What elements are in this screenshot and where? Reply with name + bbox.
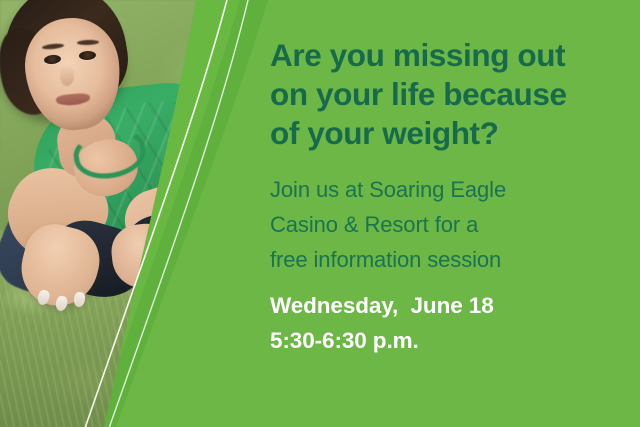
text-content-column: Are you missing out on your life because… — [270, 0, 630, 427]
subheadline-line-3: free information session — [270, 242, 600, 277]
subheadline-line-1: Join us at Soaring Eagle — [270, 172, 600, 207]
event-time: 5:30-6:30 p.m. — [270, 323, 600, 358]
event-date: Wednesday, June 18 — [270, 288, 600, 323]
subheadline-line-2: Casino & Resort for a — [270, 207, 600, 242]
headline-line-1: Are you missing out — [270, 36, 622, 75]
headline-line-3: of your weight? — [270, 114, 622, 153]
headline-line-2: on your life because — [270, 75, 622, 114]
subheadline: Join us at Soaring Eagle Casino & Resort… — [270, 172, 600, 277]
headline: Are you missing out on your life because… — [270, 36, 622, 153]
event-datetime: Wednesday, June 18 5:30-6:30 p.m. — [270, 288, 600, 358]
promotional-banner: Are you missing out on your life because… — [0, 0, 640, 427]
